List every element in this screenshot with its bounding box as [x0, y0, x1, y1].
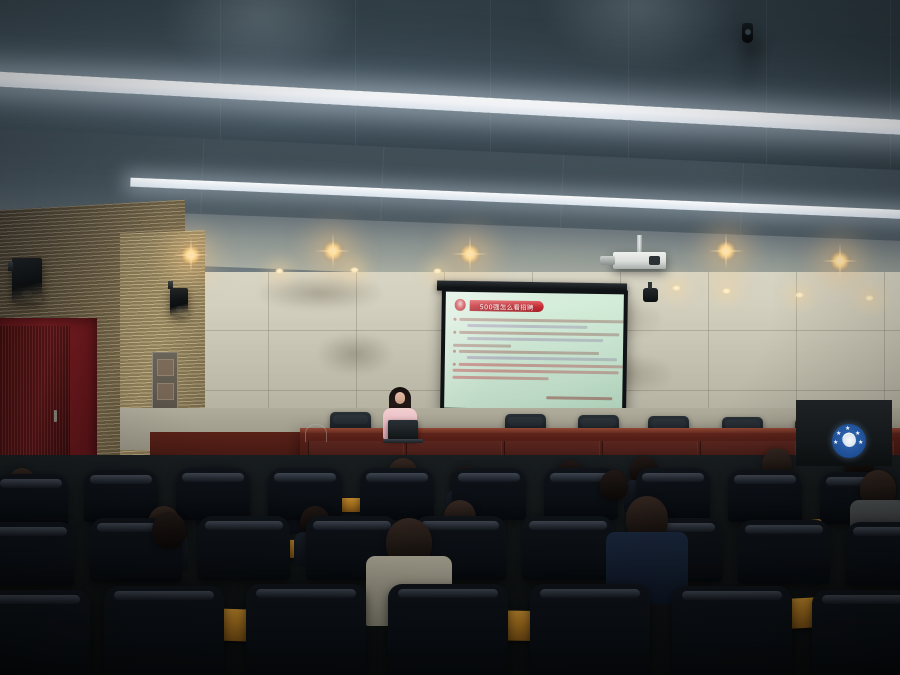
ceiling-camera-icon [643, 288, 658, 302]
audience-chair[interactable] [176, 468, 250, 520]
warm-downlight [322, 240, 344, 262]
audience-chair[interactable] [812, 590, 900, 675]
recessed-downlight [350, 267, 359, 273]
recessed-downlight [672, 285, 681, 291]
gooseneck-microphone-icon [305, 424, 327, 442]
slide-footer-line [546, 397, 612, 401]
attendee-head [152, 512, 186, 548]
speaker-bracket-center [168, 281, 173, 289]
recessed-downlight [865, 295, 874, 301]
warm-downlight [180, 244, 202, 266]
audience-chair[interactable] [530, 584, 650, 675]
police-emblem-icon: ★ ★ ★ ★ ★ [832, 424, 866, 458]
slide-surface: 500强怎么看招聘 [444, 292, 624, 411]
audience-chair[interactable] [0, 590, 90, 675]
warm-downlight [459, 243, 481, 265]
audience-chair[interactable] [246, 584, 366, 675]
wall-speaker-left [12, 258, 42, 302]
recessed-downlight [722, 288, 731, 294]
door-handle-icon[interactable] [54, 410, 57, 422]
surveillance-camera-icon [742, 23, 753, 43]
audience-chair[interactable] [738, 520, 830, 584]
recessed-downlight [795, 292, 804, 298]
warm-downlight [715, 240, 737, 262]
attendee-head [600, 470, 628, 500]
speaker-bracket-left [8, 262, 13, 271]
audience-chair[interactable] [198, 516, 290, 580]
audience-chair[interactable] [360, 468, 434, 520]
audience-chair[interactable] [104, 586, 224, 675]
wall-speaker-center [170, 288, 188, 316]
audience-chair[interactable] [522, 516, 614, 580]
audience-chair[interactable] [846, 522, 900, 586]
projector-lens-icon [600, 256, 615, 265]
audience-chair[interactable] [388, 584, 508, 675]
slide-title-text: 500强怎么看招聘 [480, 301, 534, 312]
presenter-face [395, 392, 405, 404]
audience-chair[interactable] [0, 522, 74, 586]
projection-screen[interactable]: 500强怎么看招聘 [440, 288, 628, 415]
ceiling-projector-icon [613, 252, 666, 269]
audience-chair[interactable] [84, 470, 158, 522]
warm-downlight [829, 250, 851, 272]
lecture-hall-photo: 500强怎么看招聘 [0, 0, 900, 675]
slide-body-text [453, 318, 617, 384]
recessed-downlight [275, 268, 284, 274]
recessed-downlight [433, 268, 442, 274]
audience-chair[interactable] [672, 586, 792, 675]
audience-chair[interactable] [728, 470, 802, 522]
red-seal-icon [455, 299, 466, 311]
presenter-laptop-icon [388, 420, 418, 440]
slide-title-banner: 500强怎么看招聘 [470, 300, 544, 312]
audience-chair[interactable] [0, 474, 68, 526]
